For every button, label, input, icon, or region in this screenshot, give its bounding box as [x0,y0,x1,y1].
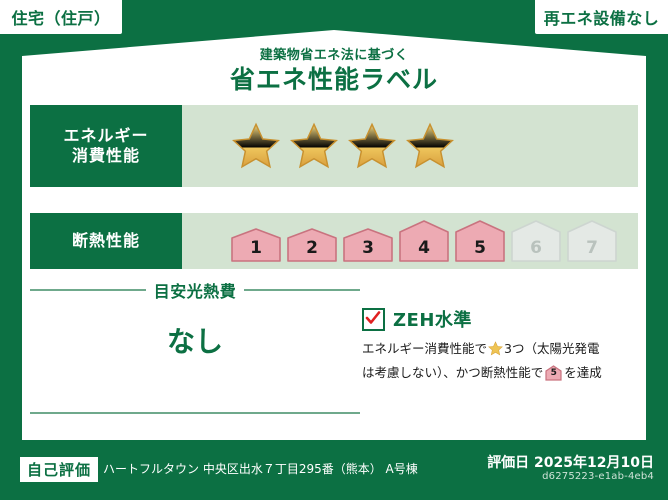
insulation-level-number: 2 [286,238,338,258]
insulation-level-3: 3 [342,227,394,263]
energy-performance-value [182,105,638,187]
zeh-title: ZEH水準 [393,306,472,332]
zeh-section: ZEH水準 エネルギー消費性能で 3つ（太陽光発電 は考慮しない）、かつ断熱性能… [362,306,634,383]
insulation-level-7: 7 [566,219,618,263]
utility-cost-value: なし [30,320,360,360]
zeh-description: エネルギー消費性能で 3つ（太陽光発電 は考慮しない）、かつ断熱性能で 5 を達… [362,339,634,383]
energy-key-line2: 消費性能 [72,146,140,166]
self-evaluation-badge: 自己評価 [18,455,100,484]
energy-performance-row: エネルギー 消費性能 [30,105,638,187]
insulation-key-text: 断熱性能 [72,231,140,251]
inline-house-badge: 5 [545,365,562,381]
heading-rule-right [244,289,360,291]
insulation-level-number: 7 [566,238,618,258]
utility-cost-bottom-rule [30,412,360,414]
zeh-desc-star-count: 3つ（太陽光発電 [504,341,599,356]
insulation-performance-value: 1234567 [182,213,638,269]
insulation-level-4: 4 [398,219,450,263]
star-icon [404,121,456,171]
energy-performance-label-key: エネルギー 消費性能 [30,105,182,187]
energy-performance-label: 住宅（住戸） 再エネ設備なし 建築物省エネ法に基づく 省エネ性能ラベル エネルギ… [0,0,668,500]
insulation-performance-row: 断熱性能 1234567 [30,213,638,269]
insulation-level-number: 3 [342,238,394,258]
star-icon [288,121,340,171]
utility-cost-heading: 目安光熱費 [30,278,360,302]
zeh-checkbox[interactable] [362,308,385,331]
insulation-level-5: 5 [454,219,506,263]
insulation-level-number: 4 [398,238,450,258]
insulation-level-number: 1 [230,238,282,258]
insulation-level-number: 6 [510,238,562,258]
property-address: ハートフルタウン 中央区出水７丁目295番（熊本） A号棟 [103,460,418,477]
zeh-desc-part1: エネルギー消費性能で [362,341,487,356]
zeh-desc-part3: を達成 [564,365,602,380]
zeh-desc-part2: は考慮しない）、かつ断熱性能で [362,365,543,380]
insulation-level-6: 6 [510,219,562,263]
insulation-level-scale: 1234567 [230,219,618,263]
inline-house-badge-number: 5 [545,366,562,381]
evaluation-date: 評価日 2025年12月10日 [487,452,654,472]
label-footer: 自己評価 ハートフルタウン 中央区出水７丁目295番（熊本） A号棟 評価日 2… [0,446,668,500]
energy-key-line1: エネルギー [63,126,148,146]
check-icon [365,310,381,326]
star-icon [346,121,398,171]
star-rating [230,121,456,171]
heading-rule-left [30,289,146,291]
building-type-badge: 住宅（住戸） [0,0,122,34]
renewable-energy-badge: 再エネ設備なし [535,0,668,34]
insulation-level-2: 2 [286,227,338,263]
insulation-level-number: 5 [454,238,506,258]
insulation-performance-label-key: 断熱性能 [30,213,182,269]
evaluation-id: d6275223-e1ab-4eb4 [542,471,654,482]
star-icon [230,121,282,171]
inline-star-icon [488,341,503,363]
insulation-level-1: 1 [230,227,282,263]
utility-cost-heading-text: 目安光熱費 [154,278,237,302]
page-title: 省エネ性能ラベル [0,60,668,96]
zeh-heading: ZEH水準 [362,306,634,332]
